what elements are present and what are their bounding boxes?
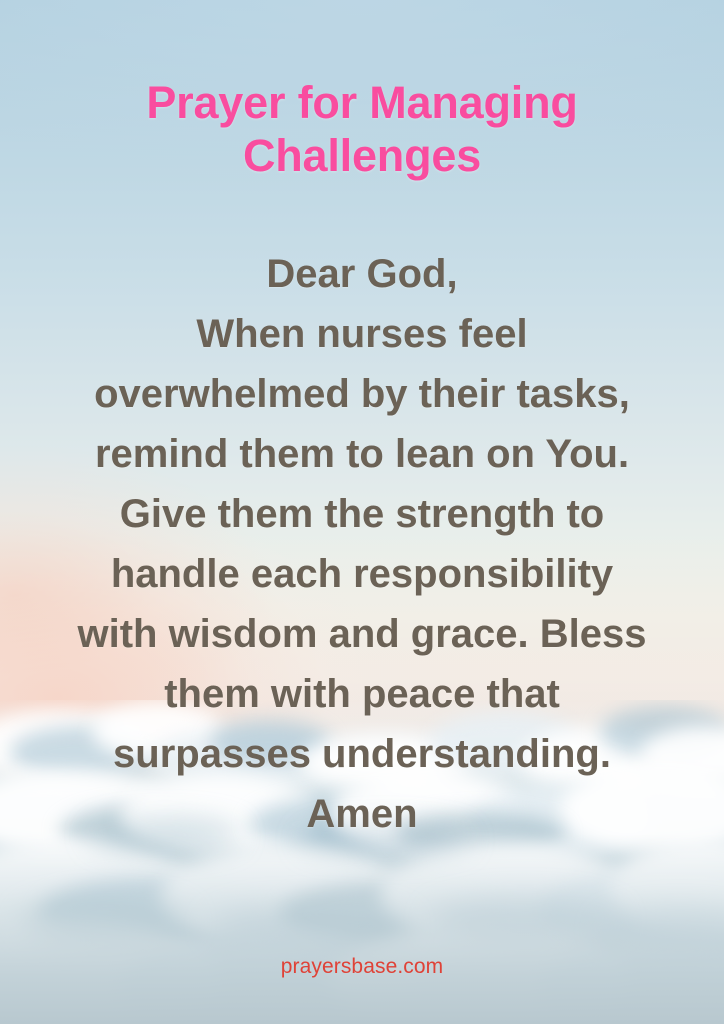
page-title: Prayer for ManagingChallenges <box>0 76 724 182</box>
prayer-line: Give them the strength to <box>16 484 708 544</box>
poster-content: Prayer for ManagingChallenges Dear God, … <box>0 0 724 1024</box>
prayer-body: Dear God, When nurses feel overwhelmed b… <box>0 244 724 844</box>
title-line: Prayer for Managing <box>146 77 577 128</box>
title-line: Challenges <box>243 130 481 181</box>
prayer-line: When nurses feel <box>16 304 708 364</box>
prayer-line: surpasses understanding. <box>16 724 708 784</box>
prayer-line: them with peace that <box>16 664 708 724</box>
prayer-line: Amen <box>16 784 708 844</box>
prayer-line: Dear God, <box>16 244 708 304</box>
site-watermark[interactable]: prayersbase.com <box>0 955 724 979</box>
prayer-line: with wisdom and grace. Bless <box>16 604 708 664</box>
prayer-line: handle each responsibility <box>16 544 708 604</box>
prayer-line: overwhelmed by their tasks, <box>16 364 708 424</box>
prayer-line: remind them to lean on You. <box>16 424 708 484</box>
prayer-poster: Prayer for ManagingChallenges Dear God, … <box>0 0 724 1024</box>
